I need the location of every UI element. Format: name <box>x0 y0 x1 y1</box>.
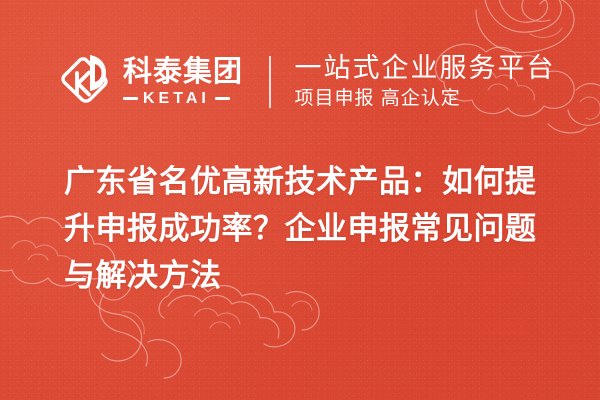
brand-name-en: KETAI <box>143 91 210 107</box>
header-divider <box>269 56 271 108</box>
brand-wordmark: 科泰集团 KETAI <box>123 57 243 106</box>
brand-name-en-row: KETAI <box>123 91 243 107</box>
promotional-banner: 科泰集团 KETAI 一站式企业服务平台 项目申报 高企认定 广东省名优高新技术… <box>0 0 600 400</box>
brand-logo[interactable]: 科泰集团 KETAI <box>56 51 243 113</box>
brand-name-cn: 科泰集团 <box>123 57 243 87</box>
banner-header: 科泰集团 KETAI 一站式企业服务平台 项目申报 高企认定 <box>0 44 600 120</box>
dash-left-icon <box>123 97 138 100</box>
tagline-block: 一站式企业服务平台 项目申报 高企认定 <box>295 53 556 111</box>
tagline-sub: 项目申报 高企认定 <box>295 88 556 111</box>
ketai-diamond-kd-monogram-icon <box>56 51 114 113</box>
tagline-main: 一站式企业服务平台 <box>295 53 556 83</box>
article-title: 广东省名优高新技术产品：如何提升申报成功率？企业申报常见问题与解决方法 <box>64 158 564 299</box>
dash-right-icon <box>215 97 230 100</box>
